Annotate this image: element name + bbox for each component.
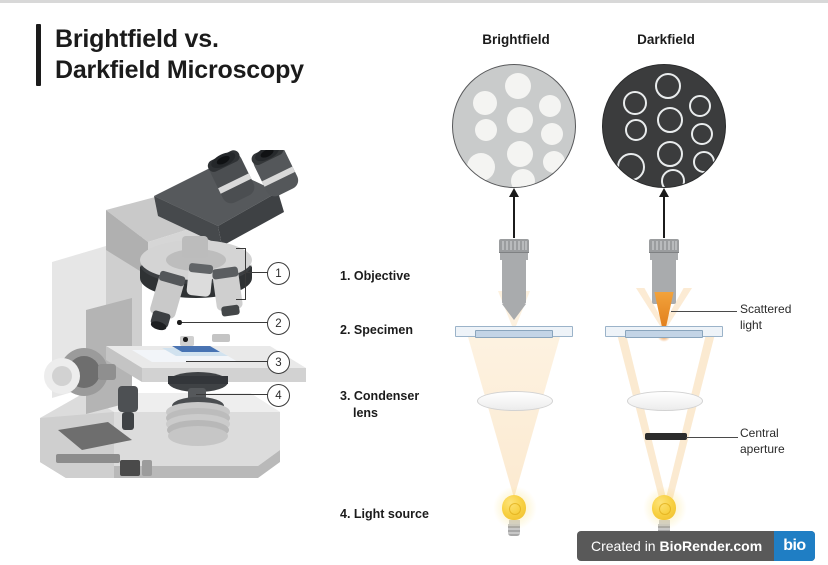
biorender-logo: bio xyxy=(774,531,815,561)
condenser-lens-brightfield xyxy=(477,391,553,411)
annotation-central-aperture-line1: Central xyxy=(740,426,822,442)
biorender-badge[interactable]: Created in BioRender.com bio xyxy=(577,531,815,561)
objective-neck-brightfield xyxy=(500,253,528,260)
objective-collar-darkfield xyxy=(649,239,679,253)
callout-line-2 xyxy=(180,322,268,323)
step-label-condenser: 3. Condenser lens xyxy=(340,388,470,422)
micrograph-cell-outline xyxy=(661,169,685,188)
light-cone-brightfield-lower xyxy=(466,330,562,498)
micrograph-cell-outline xyxy=(623,91,647,115)
central-aperture-stop xyxy=(645,433,687,440)
slide-coverslip-brightfield xyxy=(475,330,553,338)
callout-3: 3 xyxy=(267,351,290,374)
callout-1: 1 xyxy=(267,262,290,285)
step-label-specimen: 2. Specimen xyxy=(340,322,470,339)
column-heading-brightfield: Brightfield xyxy=(436,32,596,47)
leader-line-scattered-light xyxy=(671,311,737,312)
callout-dot-2 xyxy=(177,320,182,325)
callout-line-1 xyxy=(243,272,268,273)
microscope-condenser xyxy=(166,372,230,446)
biorender-badge-brand: BioRender.com xyxy=(659,538,762,554)
micrograph-cell-outline xyxy=(657,141,683,167)
objective-lens-brightfield xyxy=(499,239,529,320)
micrograph-cell xyxy=(511,169,535,188)
biorender-badge-text: Created in BioRender.com xyxy=(577,538,774,554)
callout-line-3 xyxy=(186,361,268,362)
bulb-filament-brightfield xyxy=(509,503,521,515)
biorender-badge-prefix: Created in xyxy=(591,538,659,554)
micrograph-cell-outline xyxy=(693,151,715,173)
step-label-light-source: 4. Light source xyxy=(340,506,470,523)
microscope-base xyxy=(40,393,280,478)
micrograph-cell xyxy=(539,95,561,117)
specimen-slide-brightfield xyxy=(455,326,573,337)
light-cone-darkfield-left xyxy=(616,330,666,498)
callout-dot-3 xyxy=(183,337,188,342)
condenser-lens-darkfield xyxy=(627,391,703,411)
light-source-darkfield xyxy=(651,495,677,536)
top-edge-divider xyxy=(0,0,828,3)
micrograph-cell xyxy=(505,73,531,99)
micrograph-brightfield xyxy=(452,64,576,188)
diagram-canvas: Brightfield vs. Darkfield Microscopy Bri… xyxy=(0,0,828,565)
step-label-objective: 1. Objective xyxy=(340,268,470,285)
slide-coverslip-darkfield xyxy=(625,330,703,338)
micrograph-cell-outline xyxy=(657,107,683,133)
bulb-glass-brightfield xyxy=(502,495,526,520)
title-line-1: Brightfield vs. xyxy=(55,24,304,55)
arrow-head-darkfield-icon xyxy=(659,188,669,197)
annotation-central-aperture: Central aperture xyxy=(740,426,822,458)
step-label-condenser-line2: lens xyxy=(340,405,470,422)
arrow-brightfield-icon xyxy=(513,196,515,238)
page-title: Brightfield vs. Darkfield Microscopy xyxy=(36,24,366,86)
title-accent-bar xyxy=(36,24,41,86)
callout-2: 2 xyxy=(267,312,290,335)
light-source-brightfield xyxy=(501,495,527,536)
objective-tip-brightfield xyxy=(502,304,526,320)
annotation-scattered-light-line2: light xyxy=(740,318,822,334)
annotation-central-aperture-line2: aperture xyxy=(740,442,822,458)
micrograph-darkfield xyxy=(602,64,726,188)
micrograph-cell xyxy=(475,119,497,141)
bulb-filament-darkfield xyxy=(659,503,671,515)
micrograph-cell-outline xyxy=(625,119,647,141)
callout-bracket-1 xyxy=(236,248,246,300)
objective-neck-darkfield xyxy=(650,253,678,260)
title-text: Brightfield vs. Darkfield Microscopy xyxy=(55,24,304,86)
step-label-condenser-line1: 3. Condenser xyxy=(340,389,419,403)
micrograph-cell xyxy=(507,141,533,167)
micrograph-cell-outline xyxy=(655,73,681,99)
title-line-2: Darkfield Microscopy xyxy=(55,55,304,86)
specimen-slide-darkfield xyxy=(605,326,723,337)
bulb-glass-darkfield xyxy=(652,495,676,520)
arrow-darkfield-icon xyxy=(663,196,665,238)
micrograph-cell xyxy=(541,123,563,145)
micrograph-cell xyxy=(543,151,565,173)
micrograph-cell xyxy=(467,153,495,181)
annotation-scattered-light: Scattered light xyxy=(740,302,822,334)
micrograph-cell-outline xyxy=(689,95,711,117)
objective-body-brightfield xyxy=(502,260,526,304)
micrograph-cell xyxy=(507,107,533,133)
micrograph-cell-outline xyxy=(691,123,713,145)
callout-line-4 xyxy=(196,394,268,395)
annotation-scattered-light-line1: Scattered xyxy=(740,302,822,318)
arrow-head-brightfield-icon xyxy=(509,188,519,197)
leader-line-central-aperture xyxy=(686,437,738,438)
micrograph-cell xyxy=(473,91,497,115)
callout-4: 4 xyxy=(267,384,290,407)
objective-collar-brightfield xyxy=(499,239,529,253)
column-heading-darkfield: Darkfield xyxy=(586,32,746,47)
light-cone-darkfield-right xyxy=(666,330,716,498)
micrograph-cell-outline xyxy=(617,153,645,181)
